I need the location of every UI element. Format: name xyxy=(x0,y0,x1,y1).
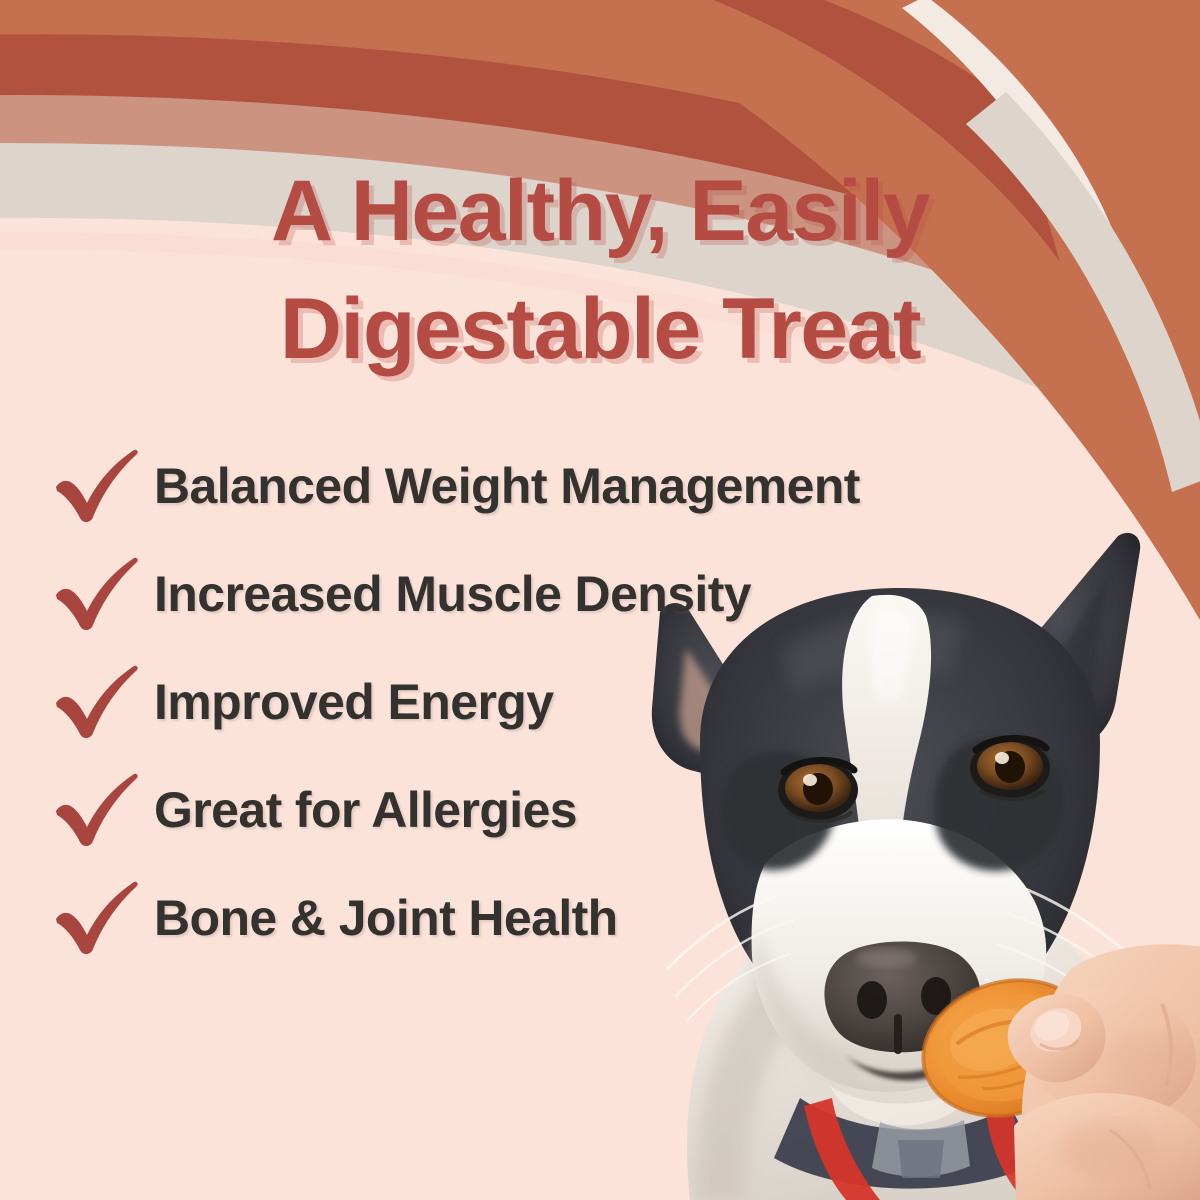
check-icon xyxy=(42,876,154,960)
list-item: Balanced Weight Management xyxy=(42,432,1102,540)
promo-graphic: A Healthy, Easily Digestable Treat Balan… xyxy=(0,0,1200,1200)
benefit-label: Improved Energy xyxy=(154,674,553,730)
check-icon xyxy=(42,660,154,744)
check-icon xyxy=(42,768,154,852)
benefit-label: Increased Muscle Density xyxy=(154,566,751,622)
list-item: Bone & Joint Health xyxy=(42,864,1102,972)
benefits-list: Balanced Weight Management Increased Mus… xyxy=(42,432,1102,972)
benefit-label: Balanced Weight Management xyxy=(154,458,860,514)
benefit-label: Bone & Joint Health xyxy=(154,890,618,946)
photo-edge-blend xyxy=(642,980,652,1200)
list-item: Improved Energy xyxy=(42,648,1102,756)
benefit-label: Great for Allergies xyxy=(154,782,577,838)
check-icon xyxy=(42,552,154,636)
list-item: Increased Muscle Density xyxy=(42,540,1102,648)
check-icon xyxy=(42,444,154,528)
list-item: Great for Allergies xyxy=(42,756,1102,864)
